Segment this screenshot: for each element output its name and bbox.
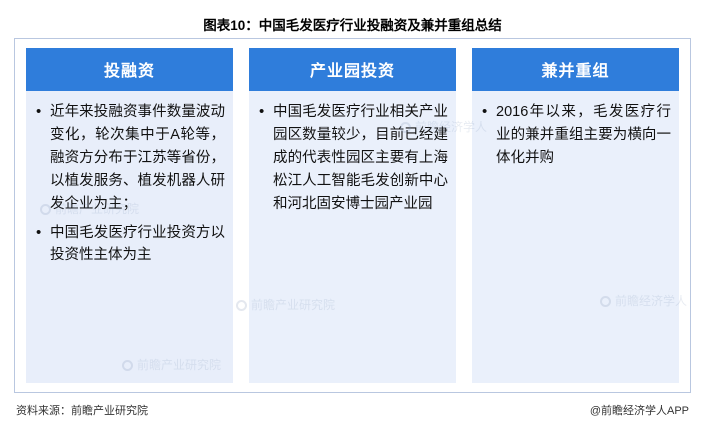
list-item: 中国毛发医疗行业投资方以投资性主体为主 bbox=[48, 222, 225, 268]
bullet-list-mergers-acquisitions: 2016年以来，毛发医疗行业的兼并重组主要为横向一体化并购 bbox=[478, 101, 671, 170]
column-body-industrial-park-investment: 中国毛发医疗行业相关产业园区数量较少，目前已经建成的代表性园区主要有上海松江人工… bbox=[249, 91, 456, 383]
source-note: 资料来源：前瞻产业研究院 bbox=[16, 402, 148, 418]
column-body-mergers-acquisitions: 2016年以来，毛发医疗行业的兼并重组主要为横向一体化并购 bbox=[472, 91, 679, 383]
columns-container: 投融资 近年来投融资事件数量波动变化，轮次集中于A轮等，融资方分布于江苏等省份，… bbox=[14, 38, 691, 393]
chart-page: 图表10：中国毛发医疗行业投融资及兼并重组总结 投融资 近年来投融资事件数量波动… bbox=[0, 0, 705, 433]
list-item: 近年来投融资事件数量波动变化，轮次集中于A轮等，融资方分布于江苏等省份，以植发服… bbox=[48, 101, 225, 216]
column-header-investment-financing: 投融资 bbox=[26, 48, 233, 91]
credit-note: @前瞻经济学人APP bbox=[590, 402, 689, 418]
list-item: 2016年以来，毛发医疗行业的兼并重组主要为横向一体化并购 bbox=[494, 101, 671, 170]
list-item: 中国毛发医疗行业相关产业园区数量较少，目前已经建成的代表性园区主要有上海松江人工… bbox=[271, 101, 448, 216]
page-title: 图表10：中国毛发医疗行业投融资及兼并重组总结 bbox=[0, 14, 705, 34]
bullet-list-investment-financing: 近年来投融资事件数量波动变化，轮次集中于A轮等，融资方分布于江苏等省份，以植发服… bbox=[32, 101, 225, 267]
column-body-investment-financing: 近年来投融资事件数量波动变化，轮次集中于A轮等，融资方分布于江苏等省份，以植发服… bbox=[26, 91, 233, 383]
column-header-mergers-acquisitions: 兼并重组 bbox=[472, 48, 679, 91]
column-mergers-acquisitions: 兼并重组 2016年以来，毛发医疗行业的兼并重组主要为横向一体化并购 bbox=[472, 48, 679, 383]
column-header-industrial-park-investment: 产业园投资 bbox=[249, 48, 456, 91]
column-investment-financing: 投融资 近年来投融资事件数量波动变化，轮次集中于A轮等，融资方分布于江苏等省份，… bbox=[26, 48, 233, 383]
column-industrial-park-investment: 产业园投资 中国毛发医疗行业相关产业园区数量较少，目前已经建成的代表性园区主要有… bbox=[249, 48, 456, 383]
bullet-list-industrial-park-investment: 中国毛发医疗行业相关产业园区数量较少，目前已经建成的代表性园区主要有上海松江人工… bbox=[255, 101, 448, 216]
